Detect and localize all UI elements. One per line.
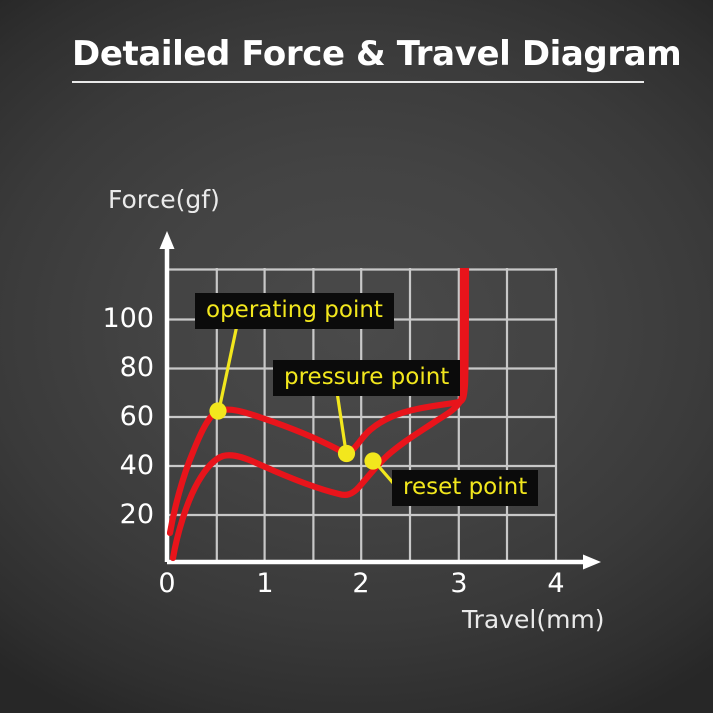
y-tick-80: 80: [92, 352, 154, 383]
y-axis-label: Force(gf): [108, 185, 220, 214]
marker-operating-point: [209, 402, 226, 419]
y-tick-60: 60: [92, 401, 154, 432]
x-axis-label: Travel(mm): [462, 605, 605, 634]
x-tick-2: 2: [341, 568, 381, 599]
diagram-canvas: Detailed Force & Travel Diagram: [0, 0, 713, 713]
x-tick-4: 4: [536, 568, 576, 599]
x-tick-1: 1: [245, 568, 285, 599]
annotation-pressure-point: pressure point: [273, 360, 460, 396]
y-tick-100: 100: [92, 303, 154, 334]
leader-pressure-point: [337, 392, 346, 452]
x-tick-0: 0: [147, 568, 187, 599]
marker-reset-point: [364, 452, 381, 469]
annotation-reset-point: reset point: [392, 470, 538, 506]
x-tick-3: 3: [439, 568, 479, 599]
y-tick-40: 40: [92, 450, 154, 481]
chart-axes: [160, 231, 602, 570]
y-tick-20: 20: [92, 499, 154, 530]
marker-pressure-point: [338, 445, 355, 462]
annotation-operating-point: operating point: [195, 293, 394, 329]
